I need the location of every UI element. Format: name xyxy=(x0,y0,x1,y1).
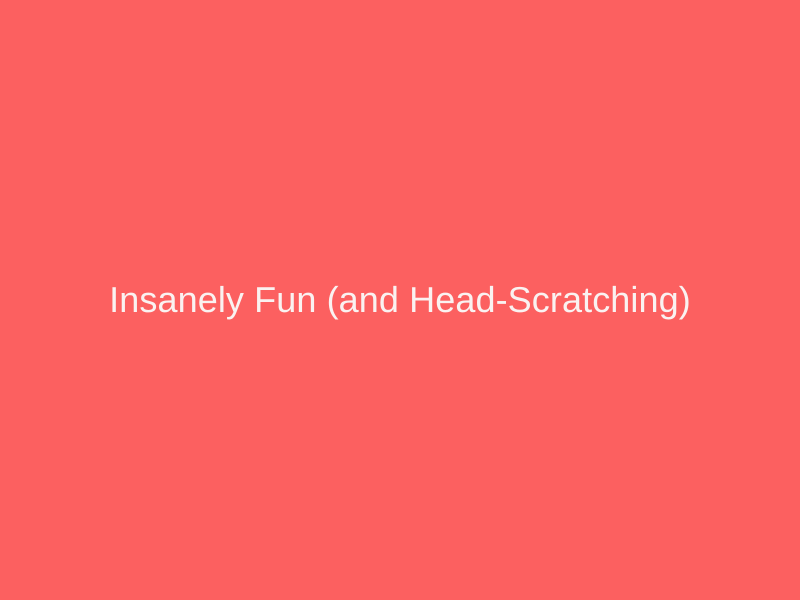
title-card-banner: Insanely Fun (and Head-Scratching) xyxy=(0,0,800,600)
page-title: Insanely Fun (and Head-Scratching) xyxy=(0,278,800,322)
